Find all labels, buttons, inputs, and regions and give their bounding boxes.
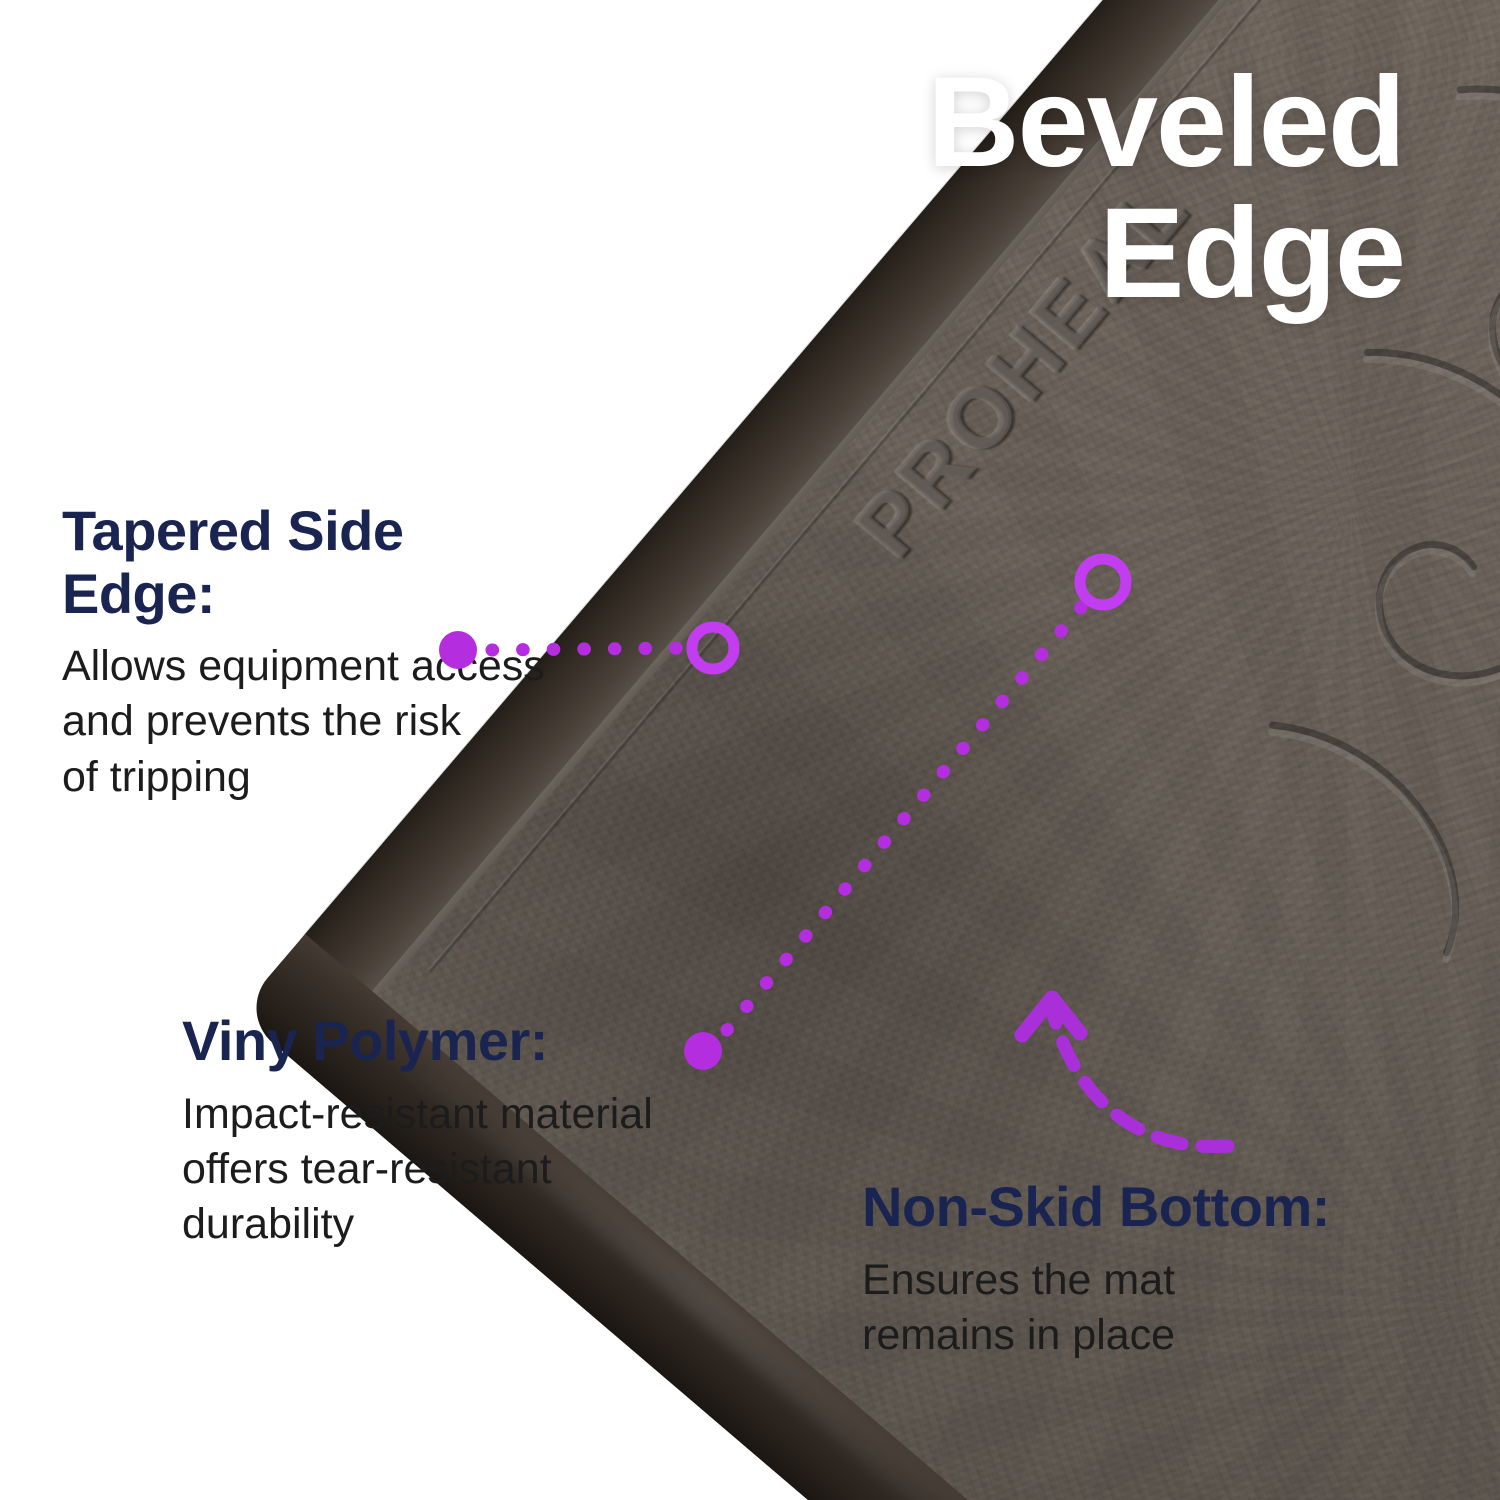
hero-heading: Beveled Edge — [927, 58, 1404, 319]
callout-title: Non-Skid Bottom: — [862, 1176, 1500, 1239]
callout-tapered-side-edge: Tapered Side Edge: Allows equipment acce… — [62, 500, 672, 805]
callout-non-skid-bottom: Non-Skid Bottom: Ensures the mat remains… — [862, 1176, 1500, 1363]
infographic-canvas: PROHEAL Beveled Edge Tapered Side Edge: … — [0, 0, 1500, 1500]
callout-body: Allows equipment access and prevents the… — [62, 639, 672, 804]
callout-body: Impact-resistant material offers tear-re… — [182, 1087, 802, 1252]
callout-body: Ensures the mat remains in place — [862, 1253, 1500, 1363]
callout-viny-polymer: Viny Polymer: Impact-resistant material … — [182, 1010, 802, 1252]
callout-title: Viny Polymer: — [182, 1010, 802, 1073]
callout-title: Tapered Side Edge: — [62, 500, 672, 625]
